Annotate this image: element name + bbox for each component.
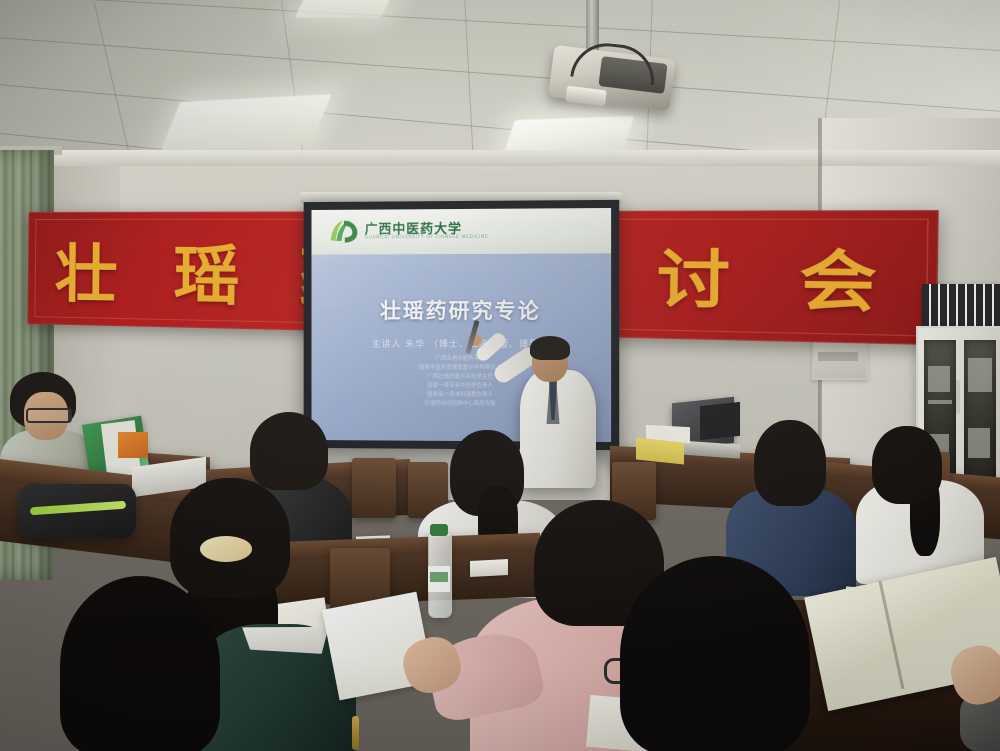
audience-hair xyxy=(60,576,220,751)
classroom-photo: 壮 瑶 药 讨 会 广西中医药大学 GUANGXI UNIVERSITY OF … xyxy=(0,0,1000,751)
audience-hair xyxy=(754,420,826,506)
audience-hair xyxy=(620,556,810,751)
desk-name-card xyxy=(470,559,508,577)
university-name-english: GUANGXI UNIVERSITY OF CHINESE MEDICINE xyxy=(365,235,489,241)
orange-box xyxy=(118,432,148,458)
bottle-label-graphic xyxy=(430,572,448,582)
audience-hair xyxy=(250,412,328,490)
eyeglasses-icon xyxy=(26,408,72,423)
presenter-hair xyxy=(530,336,570,360)
binder-row xyxy=(922,284,1000,328)
electrical-panel-slot xyxy=(818,352,858,361)
cabinet-glass-door-right[interactable] xyxy=(964,340,996,488)
wall-soffit xyxy=(0,150,1000,166)
bottle-cap xyxy=(430,524,448,536)
pen xyxy=(352,716,359,750)
cabinet-handle[interactable] xyxy=(956,380,960,414)
banner-text-right: 讨 会 xyxy=(656,228,900,325)
slide-header-band: 广西中医药大学 GUANGXI UNIVERSITY OF CHINESE ME… xyxy=(312,208,612,255)
presenter-lab-coat xyxy=(520,370,596,488)
hair-scrunchie xyxy=(200,536,252,562)
audience-hair xyxy=(872,426,942,504)
university-logo-icon xyxy=(327,218,360,246)
chair xyxy=(352,458,396,518)
slide-title: 壮瑶药研究专论 xyxy=(312,295,612,325)
laptop-screen xyxy=(700,402,740,440)
